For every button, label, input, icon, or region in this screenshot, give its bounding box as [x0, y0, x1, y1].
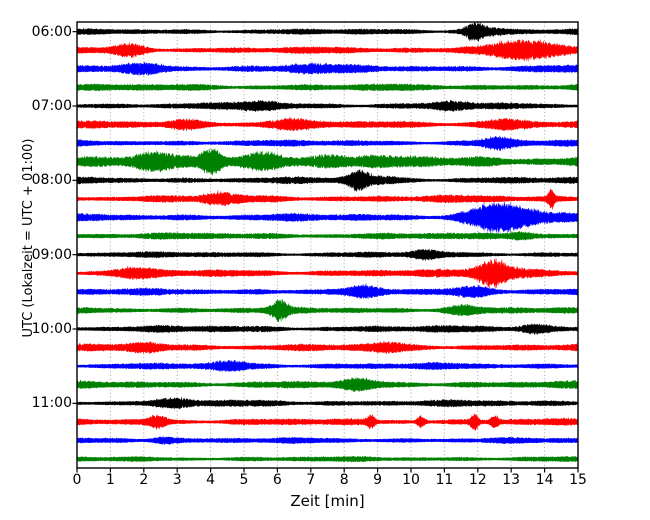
x-tick-label: 2	[139, 472, 148, 488]
mask-top	[0, 0, 650, 22]
x-tick-label: 7	[306, 472, 315, 488]
x-tick-label: 6	[273, 472, 282, 488]
x-tick-label: 8	[340, 472, 349, 488]
x-tick-label: 3	[173, 472, 182, 488]
x-tick-label: 1	[106, 472, 115, 488]
x-tick-label: 14	[536, 472, 554, 488]
x-tick-label: 4	[206, 472, 215, 488]
x-tick-label: 11	[435, 472, 453, 488]
y-axis-label: UTC (Lokalzeit = UTC + 01:00)	[18, 8, 40, 468]
x-tick-label: 13	[502, 472, 520, 488]
x-tick-label: 5	[240, 472, 249, 488]
x-tick-label: 0	[73, 472, 82, 488]
x-tick-label: 9	[373, 472, 382, 488]
x-tick-label: 12	[469, 472, 487, 488]
x-tick-label: 15	[569, 472, 587, 488]
x-axis-label: Zeit [min]	[77, 492, 578, 510]
x-tick-label: 10	[402, 472, 420, 488]
plot-canvas	[0, 0, 650, 520]
mask-right	[578, 0, 650, 520]
seismogram-figure: 06:0007:0008:0009:0010:0011:00 UTC (Loka…	[0, 0, 650, 520]
